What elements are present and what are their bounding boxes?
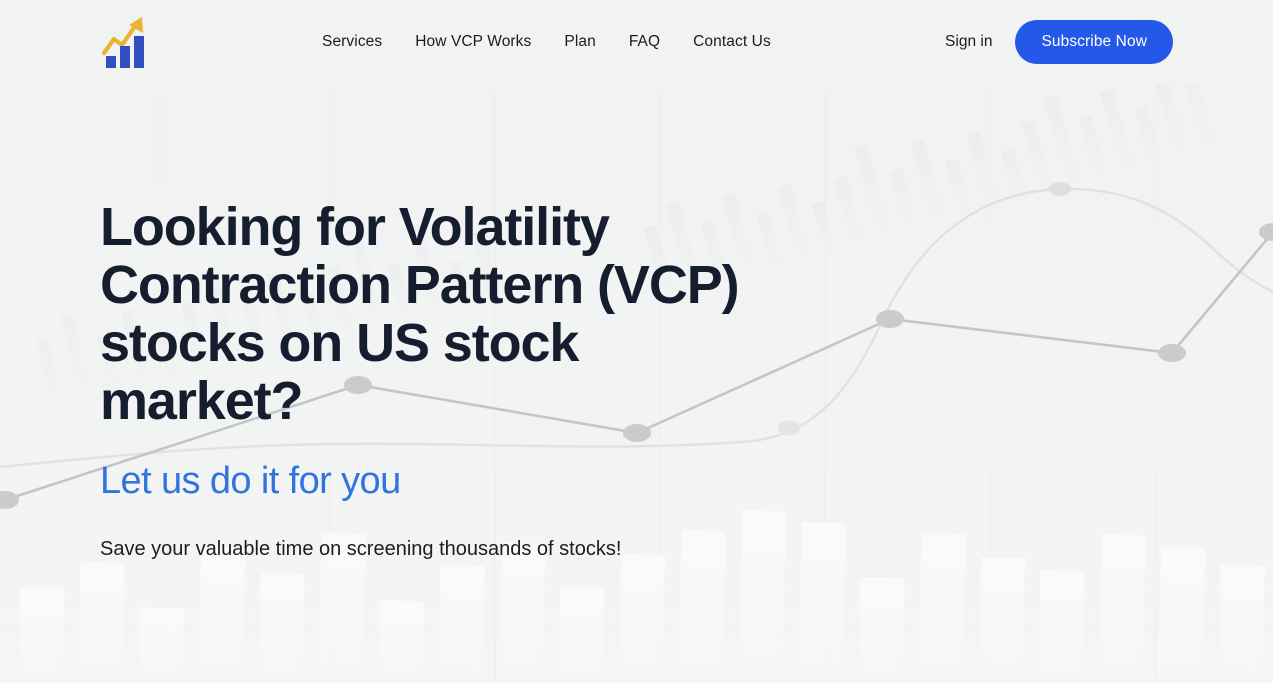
polyline-node xyxy=(1158,344,1186,362)
curve-node xyxy=(1049,182,1071,196)
main-navigation: Services How VCP Works Plan FAQ Contact … xyxy=(322,0,771,84)
volume-bar xyxy=(1038,570,1085,683)
sign-in-link[interactable]: Sign in xyxy=(945,33,992,51)
hero-headline: Looking for Volatility Contraction Patte… xyxy=(100,198,740,430)
volume-bar xyxy=(78,562,125,683)
volume-bar xyxy=(798,523,846,683)
volume-bar xyxy=(618,555,665,683)
volume-bar xyxy=(1098,535,1146,683)
hero-section: Looking for Volatility Contraction Patte… xyxy=(100,120,800,567)
volume-bar xyxy=(1218,564,1265,683)
volume-bar xyxy=(1158,548,1205,683)
volume-bar xyxy=(558,587,604,683)
polyline-node xyxy=(1259,223,1273,241)
volume-bar xyxy=(258,572,305,683)
volume-bar xyxy=(438,564,485,683)
page-root: Services How VCP Works Plan FAQ Contact … xyxy=(0,0,1273,683)
hero-description: Save your valuable time on screening tho… xyxy=(100,532,670,567)
brand-logo-icon[interactable] xyxy=(100,12,152,70)
header-actions: Sign in Subscribe Now xyxy=(945,0,1173,84)
nav-item-faq[interactable]: FAQ xyxy=(629,33,660,51)
volume-bar xyxy=(18,587,64,683)
logo-bar-2 xyxy=(120,46,130,68)
logo-bar-3 xyxy=(134,36,144,68)
hero-subheadline: Let us do it for you xyxy=(100,458,800,504)
polyline-node xyxy=(876,310,904,328)
volume-bar xyxy=(858,577,905,683)
site-header: Services How VCP Works Plan FAQ Contact … xyxy=(0,0,1273,84)
nav-item-services[interactable]: Services xyxy=(322,33,382,51)
subscribe-now-button[interactable]: Subscribe Now xyxy=(1015,20,1173,64)
nav-item-contact-us[interactable]: Contact Us xyxy=(693,33,771,51)
volume-bar xyxy=(198,548,245,683)
logo-bar-1 xyxy=(106,56,116,68)
volume-bar xyxy=(978,557,1025,683)
volume-bar xyxy=(378,600,424,683)
volume-bar xyxy=(918,533,966,683)
volume-bar xyxy=(138,607,184,683)
nav-item-how-vcp-works[interactable]: How VCP Works xyxy=(415,33,531,51)
polyline-node xyxy=(0,491,19,509)
nav-item-plan[interactable]: Plan xyxy=(564,33,595,51)
